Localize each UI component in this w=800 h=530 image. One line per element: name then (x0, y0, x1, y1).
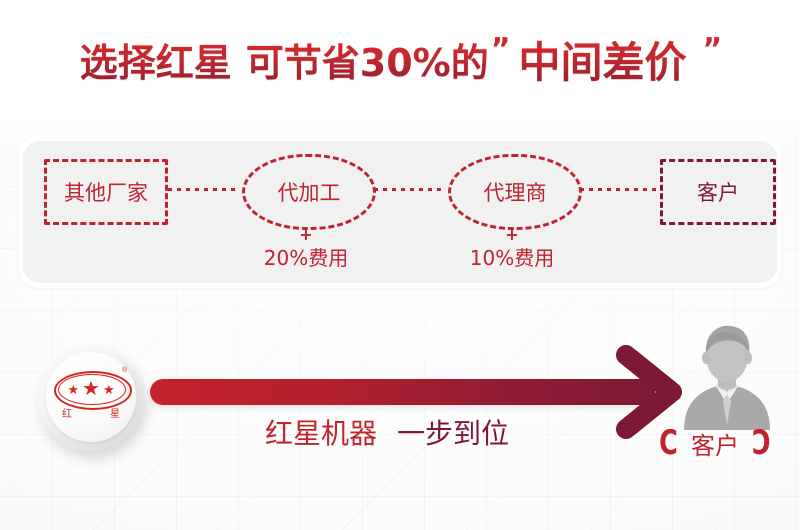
logo-char-hong: 红 (56, 405, 78, 420)
logo-wordmark: 红 星 (56, 405, 126, 420)
headline-emphasis: 中间差价 (518, 29, 686, 90)
flow-node-customer-label: 客户 (697, 177, 739, 207)
connector-dots-3 (580, 188, 656, 191)
bottom-brand-text: 红星机器 (265, 412, 377, 452)
poster-canvas: 选择红星 可节省30%的 ” 中间差价 ” 其他厂家 代加工 代理商 客户 + (0, 0, 800, 530)
headline-quote-close: ” (703, 32, 721, 67)
headline-quote-open: ” (491, 32, 509, 67)
flow-node-customer: 客户 (660, 159, 776, 225)
flow-node-other-factory-label: 其他厂家 (64, 177, 148, 207)
connector-dots-2 (374, 188, 444, 191)
logo-char-xing: 星 (104, 405, 126, 420)
logo-stars: ★ ★ ★ (58, 377, 124, 401)
arrow-shaft (150, 379, 655, 405)
headline-part1: 选择红星 (80, 32, 232, 87)
fee-amount-1: 20%费用 (242, 245, 370, 271)
customer-caption-text: 客户 (691, 426, 739, 461)
logo-star-center-icon: ★ (82, 379, 100, 399)
fee-markup-oem: + 20%费用 (242, 227, 370, 271)
bracket-left-icon: C (659, 426, 678, 460)
connector-dots-1 (168, 188, 238, 191)
fee-amount-2: 10%费用 (448, 245, 576, 271)
logo-star-left-icon: ★ (67, 383, 79, 396)
logo-star-right-icon: ★ (103, 383, 115, 396)
bottom-slogan-text: 一步到位 (397, 412, 509, 452)
bottom-tagline: 红星机器 一步到位 (265, 412, 555, 452)
flow-panel-inner: 其他厂家 代加工 代理商 客户 + 20%费用 + 10%费用 (23, 141, 777, 283)
flow-node-agent-dealer: 代理商 (448, 154, 582, 230)
flow-panel: 其他厂家 代加工 代理商 客户 + 20%费用 + 10%费用 (18, 136, 782, 288)
bracket-right-icon: Ɔ (752, 426, 771, 460)
logo-registered-icon: ® (122, 367, 127, 374)
headline: 选择红星 可节省30%的 ” 中间差价 ” (0, 28, 800, 90)
flow-node-other-factory: 其他厂家 (44, 159, 168, 225)
headline-part2: 可节省30%的 (246, 32, 489, 87)
flow-node-oem-processing: 代加工 (242, 154, 376, 230)
flow-node-agent-dealer-label: 代理商 (484, 177, 547, 207)
fee-plus-sign-2: + (448, 227, 576, 243)
flow-node-oem-processing-label: 代加工 (278, 177, 341, 207)
customer-caption: C 客户 Ɔ (645, 424, 785, 462)
fee-markup-agent: + 10%费用 (448, 227, 576, 271)
customer-avatar-icon (676, 322, 778, 430)
fee-plus-sign-1: + (242, 227, 370, 243)
